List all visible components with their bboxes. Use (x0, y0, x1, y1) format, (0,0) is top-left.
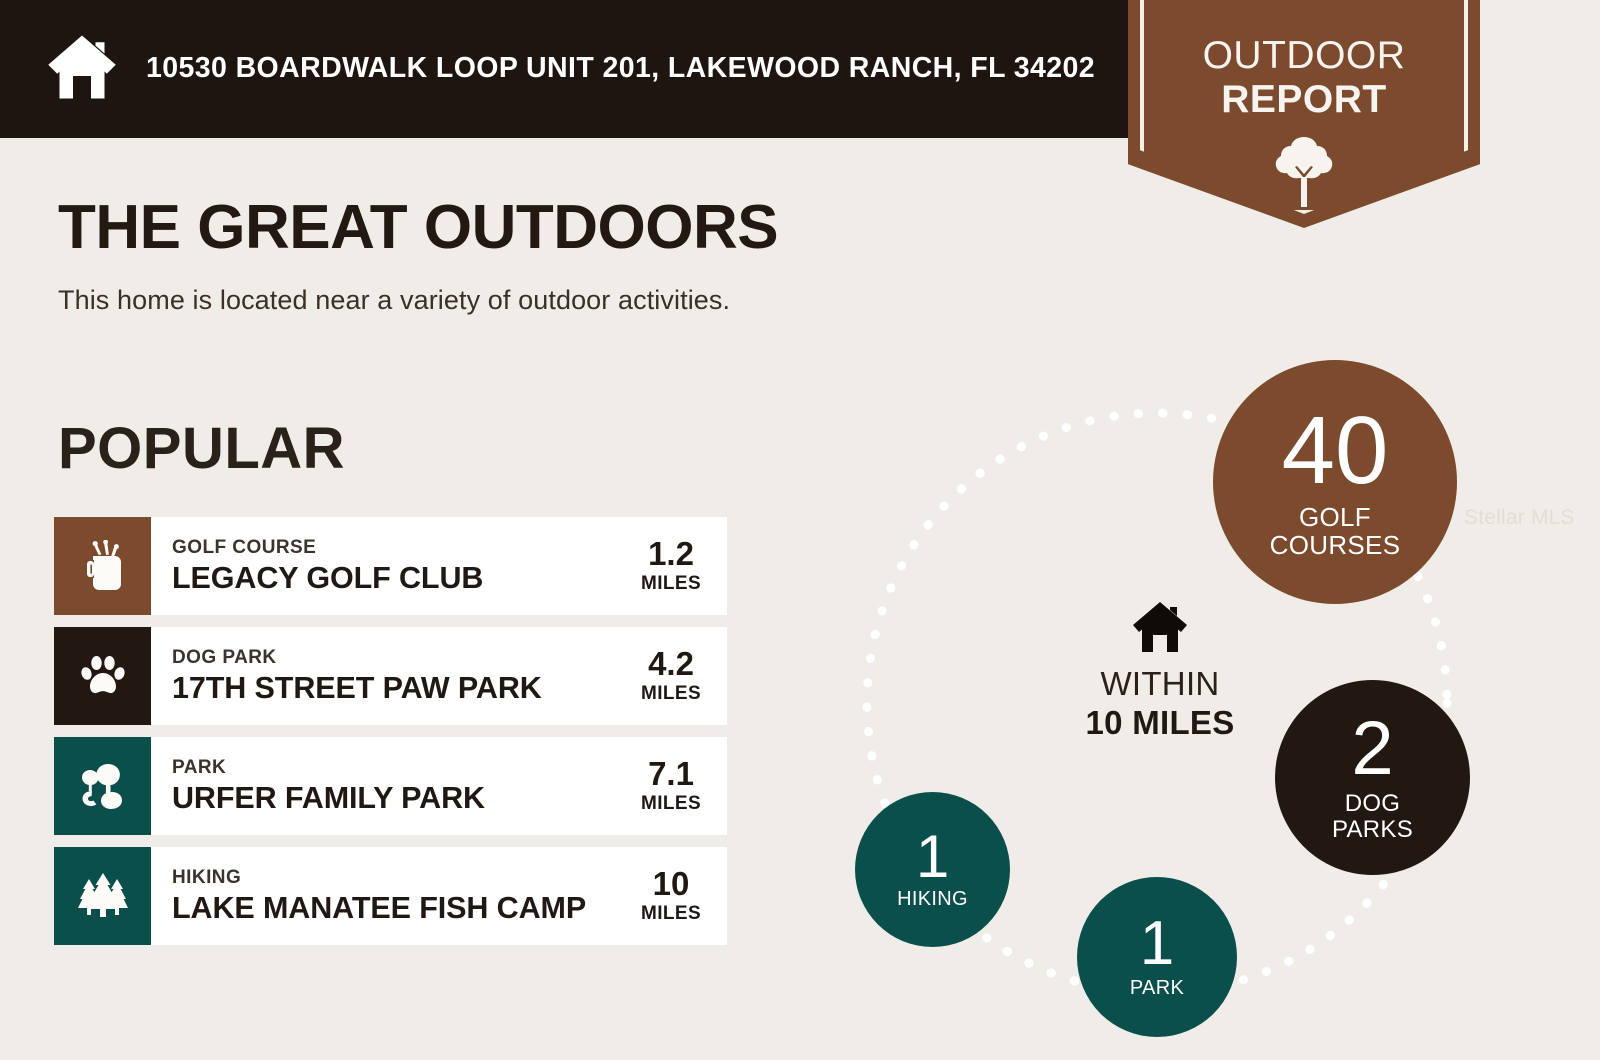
tree-icon (1273, 133, 1335, 209)
stat-node-hiking[interactable]: 1 HIKING (855, 792, 1010, 947)
stat-label: DOG PARKS (1332, 791, 1413, 842)
distance-value: 7.1 (648, 757, 694, 790)
item-name: LAKE MANATEE FISH CAMP (172, 892, 623, 924)
page-subtitle: This home is located near a variety of o… (58, 285, 730, 316)
stat-node-dog-parks[interactable]: 2 DOG PARKS (1275, 680, 1470, 875)
page-title: THE GREAT OUTDOORS (58, 192, 778, 263)
distance-unit: MILES (641, 683, 701, 705)
item-distance: 10 MILES (623, 847, 727, 945)
item-name: URFER FAMILY PARK (172, 782, 623, 814)
center-line1: WITHIN (1100, 667, 1219, 700)
stat-count: 2 (1351, 713, 1393, 785)
item-text: PARK URFER FAMILY PARK (151, 737, 623, 835)
distance-value: 10 (653, 867, 690, 900)
stat-label-line1: DOG (1345, 790, 1401, 817)
distance-value: 4.2 (648, 647, 694, 680)
item-distance: 1.2 MILES (623, 517, 727, 615)
park-trees-icon (78, 762, 128, 810)
popular-heading: POPULAR (58, 415, 345, 482)
item-name: 17TH STREET PAW PARK (172, 672, 623, 704)
golf-bag-icon (79, 540, 127, 592)
item-tile (54, 627, 151, 725)
stat-label-line2: PARKS (1332, 816, 1413, 843)
distance-unit: MILES (641, 793, 701, 815)
outdoor-report-badge: OUTDOOR REPORT (1128, 0, 1480, 228)
diagram-center: WITHIN 10 MILES (1045, 600, 1275, 739)
popular-list: GOLF COURSE LEGACY GOLF CLUB 1.2 MILES D… (54, 517, 727, 957)
watermark: Stellar MLS (1464, 506, 1575, 530)
badge-line1: OUTDOOR (1203, 36, 1406, 75)
item-category: DOG PARK (172, 648, 623, 669)
item-text: HIKING LAKE MANATEE FISH CAMP (151, 847, 623, 945)
stat-count: 1 (916, 828, 949, 885)
home-icon (46, 32, 118, 102)
property-address: 10530 BOARDWALK LOOP UNIT 201, LAKEWOOD … (146, 50, 1095, 88)
badge-line2: REPORT (1221, 80, 1387, 119)
stat-label-line1: GOLF (1299, 502, 1371, 532)
header-bar: 10530 BOARDWALK LOOP UNIT 201, LAKEWOOD … (0, 0, 1128, 138)
stat-node-golf-courses[interactable]: 40 GOLF COURSES (1213, 360, 1457, 604)
stat-label: PARK (1130, 978, 1184, 999)
item-category: PARK (172, 758, 623, 779)
list-item[interactable]: HIKING LAKE MANATEE FISH CAMP 10 MILES (54, 847, 727, 945)
item-name: LEGACY GOLF CLUB (172, 562, 623, 594)
paw-print-icon (79, 652, 127, 700)
distance-value: 1.2 (648, 537, 694, 570)
list-item[interactable]: DOG PARK 17TH STREET PAW PARK 4.2 MILES (54, 627, 727, 725)
stat-label-line2: COURSES (1270, 530, 1401, 560)
stat-label: GOLF COURSES (1270, 504, 1401, 559)
item-category: HIKING (172, 868, 623, 889)
item-distance: 4.2 MILES (623, 627, 727, 725)
distance-unit: MILES (641, 573, 701, 595)
item-text: GOLF COURSE LEGACY GOLF CLUB (151, 517, 623, 615)
item-tile (54, 517, 151, 615)
item-category: GOLF COURSE (172, 538, 623, 559)
stat-count: 40 (1282, 405, 1389, 496)
list-item[interactable]: GOLF COURSE LEGACY GOLF CLUB 1.2 MILES (54, 517, 727, 615)
stat-node-park[interactable]: 1 PARK (1077, 877, 1237, 1037)
center-line2: 10 MILES (1085, 706, 1234, 739)
list-item[interactable]: PARK URFER FAMILY PARK 7.1 MILES (54, 737, 727, 835)
stat-label: HIKING (897, 889, 968, 910)
item-tile (54, 847, 151, 945)
within-10-miles-diagram: 40 GOLF COURSES 2 DOG PARKS 1 HIKING 1 P… (820, 355, 1510, 1055)
home-icon (1131, 600, 1189, 654)
distance-unit: MILES (641, 903, 701, 925)
pine-trees-icon (77, 871, 129, 921)
stat-count: 1 (1140, 915, 1174, 974)
item-tile (54, 737, 151, 835)
item-distance: 7.1 MILES (623, 737, 727, 835)
item-text: DOG PARK 17TH STREET PAW PARK (151, 627, 623, 725)
